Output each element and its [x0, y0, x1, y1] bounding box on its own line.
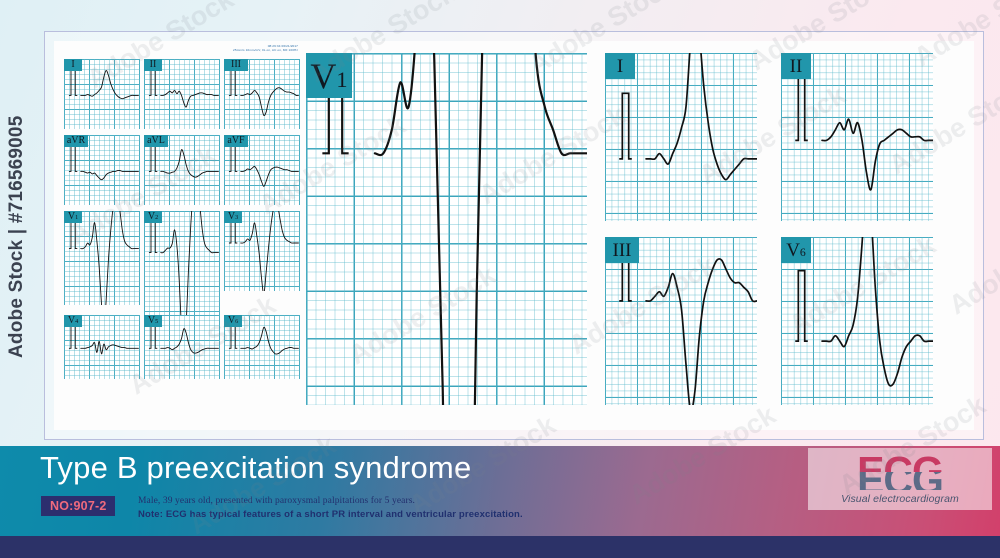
case-number-badge: NO:907-2 — [41, 496, 115, 516]
page-title: Type B preexcitation syndrome — [40, 450, 471, 486]
ecg-trace — [64, 211, 140, 305]
calibration-pulse — [795, 271, 808, 342]
caption-block: Male, 39 years old, presented with parox… — [138, 494, 758, 523]
mosaic-lead-panel-v3[interactable]: V3 — [224, 211, 300, 291]
ecg-trace — [224, 211, 300, 291]
ecg-card-frame: 08:29:34 06/21/2017 25mm/s 10mm/mV, 0L o… — [44, 31, 984, 440]
lead-label-iii: III — [605, 237, 639, 263]
ecg-logo-wordmark: ECG ECG ECG — [857, 453, 943, 491]
lead-panel-ii[interactable]: II — [781, 53, 933, 221]
patient-history-text: Male, 39 years old, presented with parox… — [138, 494, 758, 508]
calibration-pulse — [149, 143, 157, 171]
lead-label-v1: V1 — [64, 211, 82, 223]
lead-label-i: I — [605, 53, 635, 79]
lead-label-avr: aVR — [64, 135, 88, 147]
mosaic-lead-panel-ii[interactable]: II — [144, 59, 220, 129]
mosaic-lead-panel-v2[interactable]: V2 — [144, 211, 220, 315]
mosaic-lead-panel-v6[interactable]: V6 — [224, 315, 300, 379]
lead-label-ii: II — [781, 53, 811, 79]
ecg-trace — [144, 211, 220, 315]
logo-top-half: ECG — [857, 453, 943, 472]
lead-label-iii: III — [224, 59, 248, 71]
lead-label-v1: V1 — [306, 53, 352, 98]
ecg-logo-tagline: Visual electrocardiogram — [841, 493, 959, 505]
lead-panel-iii[interactable]: III — [605, 237, 757, 405]
lead-label-v2: V2 — [144, 211, 162, 223]
mosaic-lead-panel-iii[interactable]: III — [224, 59, 300, 129]
footer-strip — [0, 536, 1000, 558]
mosaic-lead-panel-avr[interactable]: aVR — [64, 135, 140, 205]
lead-label-avf: aVF — [224, 135, 248, 147]
lead-panel-i[interactable]: I — [605, 53, 757, 221]
calibration-pulse — [619, 93, 632, 159]
ecg-sheet: 08:29:34 06/21/2017 25mm/s 10mm/mV, 0L o… — [54, 41, 974, 430]
lead-label-v6: V6 — [224, 315, 242, 327]
calibration-pulse — [69, 67, 77, 95]
ecg-logo: ECG ECG ECG Visual electrocardiogram — [808, 448, 992, 510]
lead-label-v4: V4 — [64, 315, 82, 327]
adobe-stock-id: Adobe Stock | #716569005 — [6, 28, 28, 358]
lead-label-v6: V6 — [781, 237, 811, 263]
mosaic-lead-panel-v1[interactable]: V1 — [64, 211, 140, 305]
calibration-pulse — [229, 67, 237, 95]
lead-label-ii: II — [144, 59, 162, 71]
mosaic-lead-panel-avf[interactable]: aVF — [224, 135, 300, 205]
mosaic-lead-panel-avl[interactable]: aVL — [144, 135, 220, 205]
ecg-note-text: Note: ECG has typical features of a shor… — [138, 508, 758, 523]
lead-label-avl: aVL — [144, 135, 168, 147]
lead-label-v5: V5 — [144, 315, 162, 327]
calibration-pulse — [69, 143, 77, 171]
main-lead-panel-v1[interactable]: V1 — [306, 53, 587, 405]
mosaic-lead-panel-v4[interactable]: V4 — [64, 315, 140, 379]
mosaic-lead-panel-i[interactable]: I — [64, 59, 140, 129]
mosaic-lead-panel-v5[interactable]: V5 — [144, 315, 220, 379]
lead-label-i: I — [64, 59, 82, 71]
lead-label-v3: V3 — [224, 211, 242, 223]
calibration-pulse — [149, 67, 157, 95]
recording-parameters: 25mm/s 10mm/mV, 0L on, AC on, MF 100Hz — [233, 48, 298, 52]
twelve-lead-mosaic: 08:29:34 06/21/2017 25mm/s 10mm/mV, 0L o… — [64, 53, 300, 405]
lead-panel-v6[interactable]: V6 — [781, 237, 933, 405]
ecg-trace — [306, 53, 587, 405]
calibration-pulse — [229, 143, 237, 171]
title-banner: Type B preexcitation syndrome NO:907-2 M… — [0, 446, 1000, 536]
logo-bottom-half: ECG — [857, 472, 943, 491]
ecg-recording-settings: 08:29:34 06/21/2017 25mm/s 10mm/mV, 0L o… — [233, 44, 298, 53]
